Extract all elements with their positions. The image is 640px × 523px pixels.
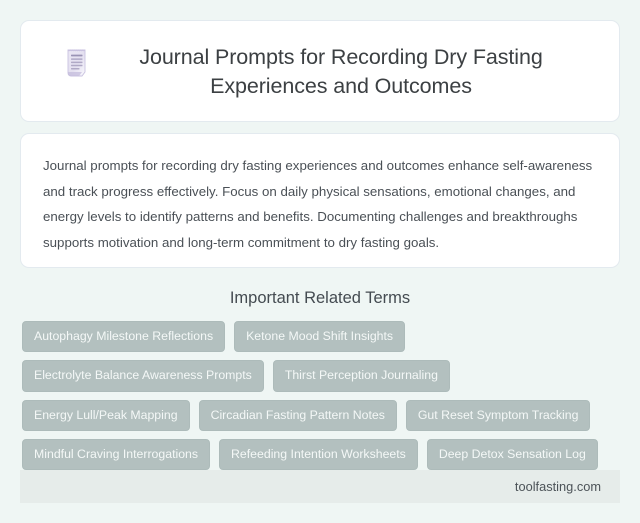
term-tag[interactable]: Ketone Mood Shift Insights	[234, 321, 405, 352]
title-card: Journal Prompts for Recording Dry Fastin…	[20, 20, 620, 122]
term-tag[interactable]: Deep Detox Sensation Log	[427, 439, 598, 470]
term-tag[interactable]: Mindful Craving Interrogations	[22, 439, 210, 470]
term-tag[interactable]: Electrolyte Balance Awareness Prompts	[22, 360, 264, 391]
description-card: Journal prompts for recording dry fastin…	[20, 133, 620, 268]
description-text: Journal prompts for recording dry fastin…	[43, 153, 597, 255]
term-tag[interactable]: Energy Lull/Peak Mapping	[22, 400, 190, 431]
related-terms-section: Important Related Terms Autophagy Milest…	[20, 289, 620, 470]
term-tag[interactable]: Circadian Fasting Pattern Notes	[199, 400, 397, 431]
term-tag[interactable]: Thirst Perception Journaling	[273, 360, 450, 391]
footer-bar: toolfasting.com	[20, 470, 620, 503]
page-root: Journal Prompts for Recording Dry Fastin…	[0, 0, 640, 523]
related-terms-heading: Important Related Terms	[20, 289, 620, 308]
term-tag[interactable]: Gut Reset Symptom Tracking	[406, 400, 591, 431]
receipt-icon	[64, 49, 90, 79]
page-title: Journal Prompts for Recording Dry Fastin…	[106, 43, 576, 101]
related-terms-list: Autophagy Milestone Reflections Ketone M…	[20, 321, 620, 470]
footer-domain: toolfasting.com	[515, 479, 601, 494]
term-tag[interactable]: Refeeding Intention Worksheets	[219, 439, 418, 470]
term-tag[interactable]: Autophagy Milestone Reflections	[22, 321, 225, 352]
